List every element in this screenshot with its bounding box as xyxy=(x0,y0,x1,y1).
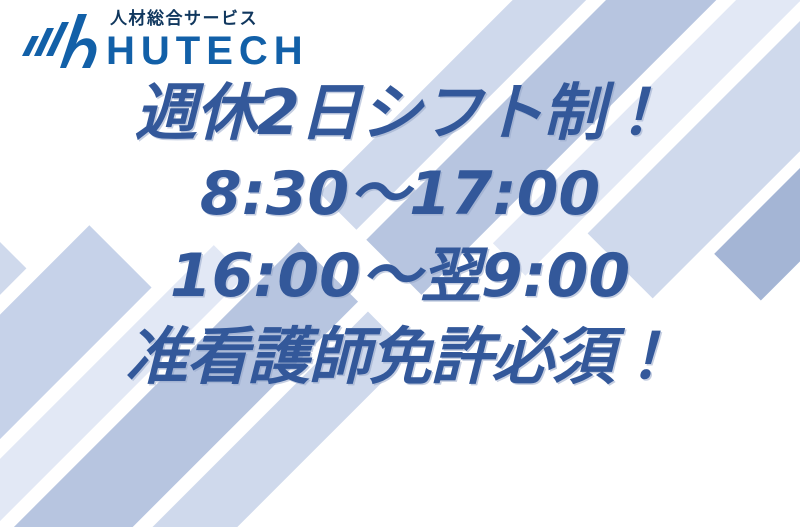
logo-text-group: 人材総合サービス HUTECH xyxy=(106,10,309,75)
headline-line-1: 週休2日シフト制！ xyxy=(0,82,800,144)
logo-wordmark: HUTECH xyxy=(106,30,309,72)
headline-line-3: 16:00〜翌9:00 xyxy=(0,246,800,306)
recruitment-banner: 人材総合サービス HUTECH 週休2日シフト制！ 8:30〜17:00 16:… xyxy=(0,0,800,527)
logo-tagline: 人材総合サービス xyxy=(110,10,309,29)
headline-block: 週休2日シフト制！ 8:30〜17:00 16:00〜翌9:00 准看護師免許必… xyxy=(0,82,800,388)
hutech-h-mark-icon xyxy=(14,6,100,78)
headline-line-2: 8:30〜17:00 xyxy=(0,164,800,224)
headline-line-4: 准看護師免許必須！ xyxy=(0,326,800,388)
brand-logo: 人材総合サービス HUTECH xyxy=(14,6,309,78)
